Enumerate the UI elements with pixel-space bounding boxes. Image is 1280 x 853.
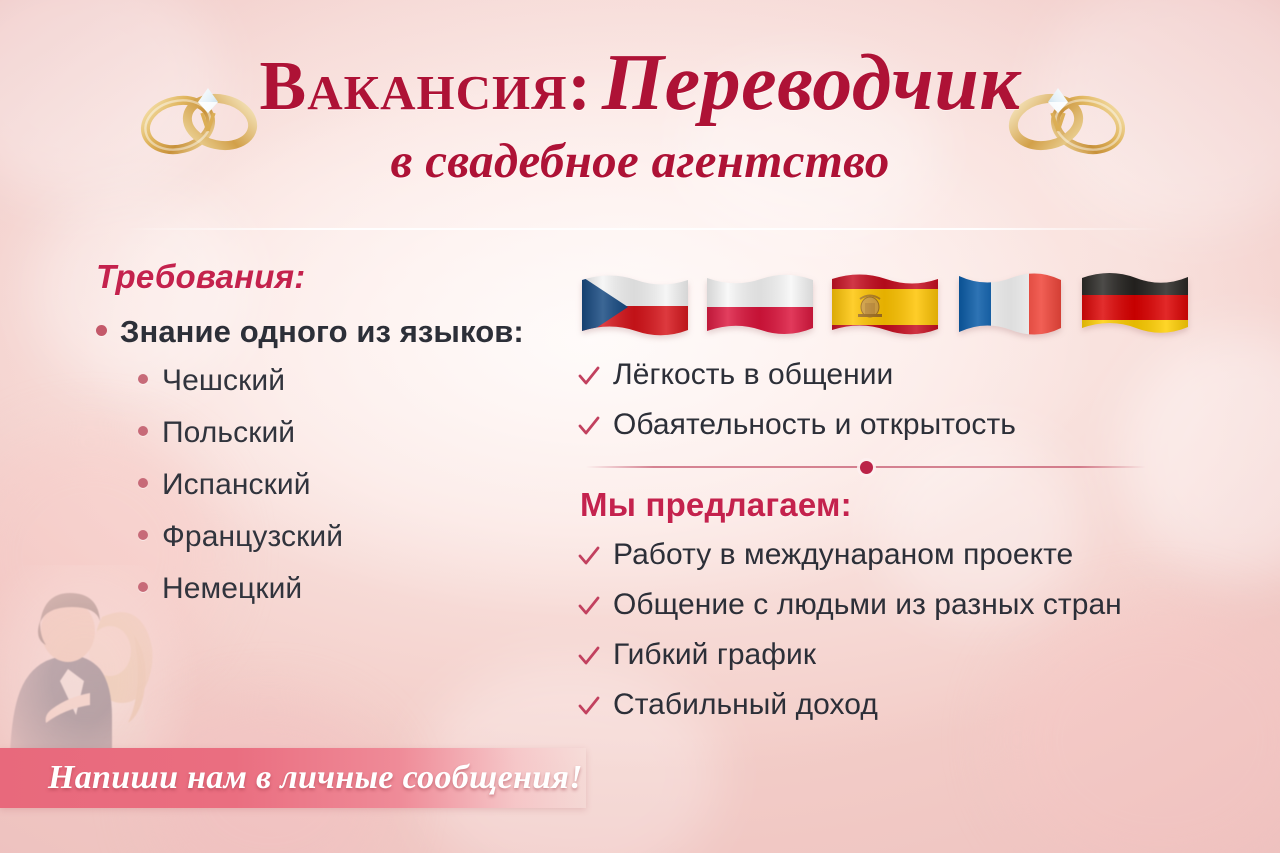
title-word-translator: Переводчик: [592, 39, 1021, 127]
requirement-languages-label: Знание одного из языков:: [120, 314, 524, 350]
offer-heading: Мы предлагаем:: [580, 486, 1238, 524]
list-item: Гибкий график: [578, 638, 1238, 672]
czech-flag-icon: [578, 270, 691, 344]
page-title: Вакансия:Переводчик: [0, 44, 1280, 122]
list-item: Стабильный доход: [578, 688, 1238, 722]
offer-label: Работу в междунараном проекте: [613, 538, 1073, 572]
check-icon: [578, 595, 600, 617]
list-item: Обаятельность и открытость: [578, 408, 1238, 442]
qualities-list: Лёгкость в общении Обаятельность и откры…: [578, 358, 1238, 442]
check-icon: [578, 415, 600, 437]
quality-label: Лёгкость в общении: [613, 358, 893, 392]
language-label: Чешский: [162, 364, 285, 398]
bullet-dot-icon: [138, 478, 148, 488]
poland-flag-icon: [703, 270, 816, 344]
list-item: Работу в междунараном проекте: [578, 538, 1238, 572]
check-icon: [578, 645, 600, 667]
quality-label: Обаятельность и открытость: [613, 408, 1016, 442]
page-subtitle: в свадебное агентство: [0, 132, 1280, 189]
header-divider: [118, 228, 1164, 230]
germany-flag-icon: [1078, 270, 1191, 344]
cta-banner[interactable]: Напиши нам в личные сообщения!: [0, 748, 586, 808]
list-item: Общение с людьми из разных стран: [578, 588, 1238, 622]
offer-label: Стабильный доход: [613, 688, 878, 722]
language-label: Испанский: [162, 468, 311, 502]
list-item: Польский: [138, 416, 596, 450]
title-word-vacancy: Вакансия:: [260, 48, 592, 125]
languages-list: Чешский Польский Испанский Французский Н…: [96, 364, 596, 606]
divider-dot-icon: [860, 461, 873, 474]
list-item: Знание одного из языков:: [96, 314, 596, 350]
requirements-heading: Требования:: [96, 258, 596, 296]
bullet-dot-icon: [138, 582, 148, 592]
flags-row: [578, 270, 1238, 344]
france-flag-icon: [953, 270, 1066, 344]
requirements-column: Требования: Знание одного из языков: Чеш…: [96, 258, 596, 606]
list-item: Немецкий: [138, 572, 596, 606]
offer-list: Работу в междунараном проекте Общение с …: [578, 538, 1238, 722]
list-item: Чешский: [138, 364, 596, 398]
bullet-dot-icon: [138, 530, 148, 540]
bullet-dot-icon: [138, 426, 148, 436]
language-label: Польский: [162, 416, 295, 450]
offer-label: Общение с людьми из разных стран: [613, 588, 1122, 622]
language-label: Французский: [162, 520, 343, 554]
list-item: Французский: [138, 520, 596, 554]
check-icon: [578, 695, 600, 717]
section-divider: [586, 466, 1146, 468]
bullet-dot-icon: [96, 325, 107, 336]
spain-flag-icon: [828, 270, 941, 344]
list-item: Лёгкость в общении: [578, 358, 1238, 392]
list-item: Испанский: [138, 468, 596, 502]
poster-header: Вакансия:Переводчик в свадебное агентств…: [0, 44, 1280, 189]
language-label: Немецкий: [162, 572, 302, 606]
check-icon: [578, 545, 600, 567]
poster-canvas: Вакансия:Переводчик в свадебное агентств…: [0, 0, 1280, 853]
requirements-list: Знание одного из языков:: [96, 314, 596, 350]
bullet-dot-icon: [138, 374, 148, 384]
offer-label: Гибкий график: [613, 638, 816, 672]
offer-column: Лёгкость в общении Обаятельность и откры…: [578, 270, 1238, 722]
cta-banner-text: Напиши нам в личные сообщения!: [0, 759, 583, 797]
check-icon: [578, 365, 600, 387]
